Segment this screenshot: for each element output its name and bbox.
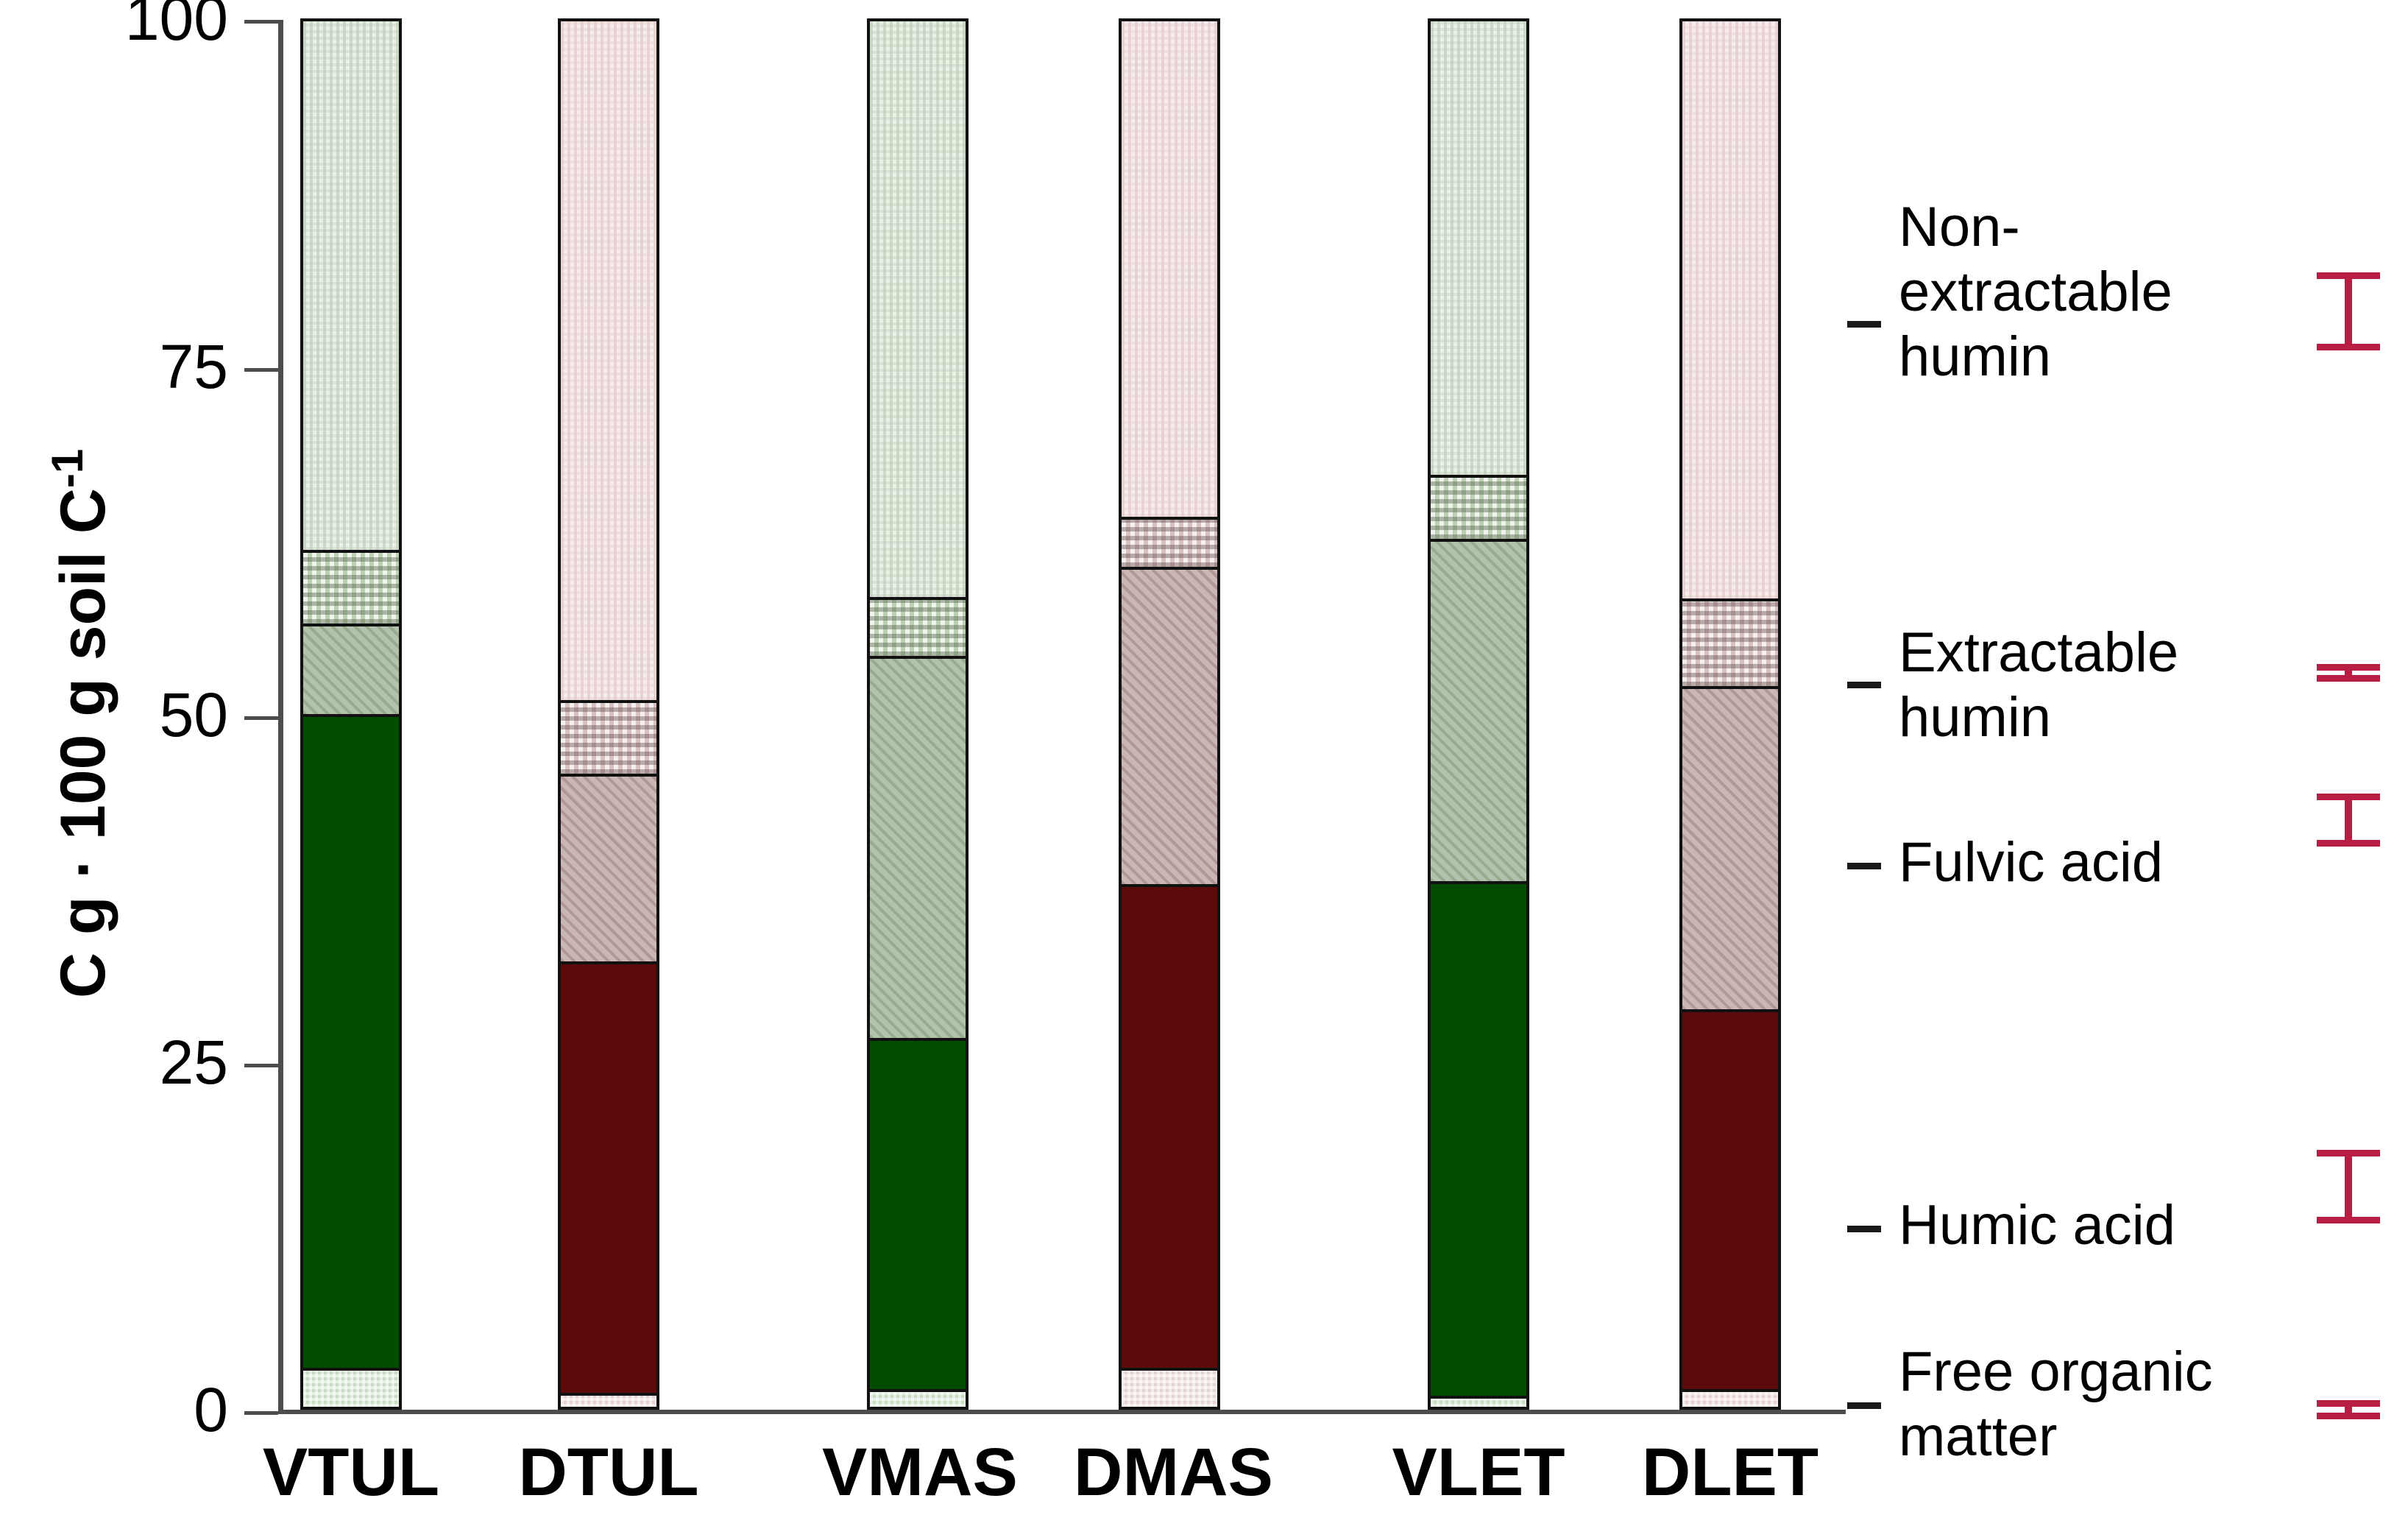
segment-free-organic-matter [1679,1389,1781,1410]
legend-label-free-organic-matter[interactable]: Free organic matter [1899,1340,2281,1469]
segment-free-organic-matter [867,1389,968,1410]
legend-dash-extractable-humin [1847,682,1881,688]
segment-non-extractable-humin [300,18,402,550]
legend-dash-humic-acid [1847,1226,1881,1232]
error-bar-fulvic-acid [2317,794,2380,847]
legend-label-non-extractable-humin[interactable]: Non-extractable humin [1899,195,2281,389]
x-tick-label-dtul: DTUL [513,1434,704,1511]
x-tick-label-vtul: VTUL [255,1434,447,1511]
x-tick-label-vmas: VMAS [822,1434,1013,1511]
legend-label-humic-acid[interactable]: Humic acid [1899,1193,2281,1258]
segment-non-extractable-humin [1428,18,1529,475]
segment-humic-acid [1679,1009,1781,1389]
segment-fulvic-acid [1428,539,1529,881]
segment-non-extractable-humin [558,18,659,700]
segment-humic-acid [1428,881,1529,1396]
segment-extractable-humin [300,550,402,624]
segment-fulvic-acid [1119,567,1220,884]
segment-humic-acid [300,714,402,1368]
y-axis-title-superscript: -1 [43,449,92,488]
error-bar-cap-bottom [2317,1217,2380,1223]
error-bar-extractable-humin [2317,664,2380,682]
y-tick-100 [244,20,278,24]
error-bar-cap-bottom [2317,675,2380,682]
y-tick-0 [244,1411,278,1415]
error-bar-non-extractable-humin [2317,272,2380,350]
segment-free-organic-matter [1119,1368,1220,1410]
y-axis-line [278,20,283,1413]
x-tick-label-vlet: VLET [1383,1434,1574,1511]
y-tick-label-75: 75 [7,336,228,398]
segment-free-organic-matter [558,1393,659,1410]
legend-dash-free-organic-matter [1847,1402,1881,1409]
y-tick-75 [244,368,278,372]
segment-extractable-humin [1679,598,1781,686]
x-tick-label-dmas: DMAS [1074,1434,1265,1511]
y-tick-50 [244,716,278,720]
segment-non-extractable-humin [867,18,968,597]
x-tick-label-dlet: DLET [1635,1434,1826,1511]
segment-fulvic-acid [1679,686,1781,1009]
segment-extractable-humin [867,597,968,655]
segment-humic-acid [867,1038,968,1388]
error-bar-free-organic-matter [2317,1400,2380,1419]
error-bar-cap-bottom [2317,1413,2380,1419]
y-tick-label-100: 100 [7,0,228,49]
y-tick-label-25: 25 [7,1031,228,1093]
segment-fulvic-acid [300,624,402,714]
segment-extractable-humin [1428,475,1529,539]
segment-humic-acid [558,961,659,1393]
error-bar-stem [2345,1150,2352,1223]
segment-non-extractable-humin [1119,18,1220,517]
y-tick-label-50: 50 [7,684,228,746]
segment-free-organic-matter [300,1368,402,1410]
segment-fulvic-acid [867,656,968,1039]
error-bar-cap-bottom [2317,344,2380,350]
segment-non-extractable-humin [1679,18,1781,598]
y-tick-25 [244,1064,278,1067]
segment-extractable-humin [558,700,659,774]
legend-label-extractable-humin[interactable]: Extractable humin [1899,621,2281,750]
legend-dash-non-extractable-humin [1847,321,1881,328]
error-bar-stem [2345,794,2352,847]
y-tick-label-0: 0 [7,1379,228,1441]
error-bar-humic-acid [2317,1150,2380,1223]
segment-extractable-humin [1119,517,1220,567]
error-bar-stem [2345,272,2352,350]
legend-dash-fulvic-acid [1847,863,1881,869]
segment-fulvic-acid [558,774,659,961]
x-axis-line [278,1410,1846,1414]
segment-free-organic-matter [1428,1396,1529,1410]
error-bar-cap-bottom [2317,840,2380,847]
legend-label-fulvic-acid[interactable]: Fulvic acid [1899,830,2281,895]
stacked-bar-chart: C g · 100 g soil C-1 100 75 50 25 0 [0,0,2408,1540]
segment-humic-acid [1119,884,1220,1368]
